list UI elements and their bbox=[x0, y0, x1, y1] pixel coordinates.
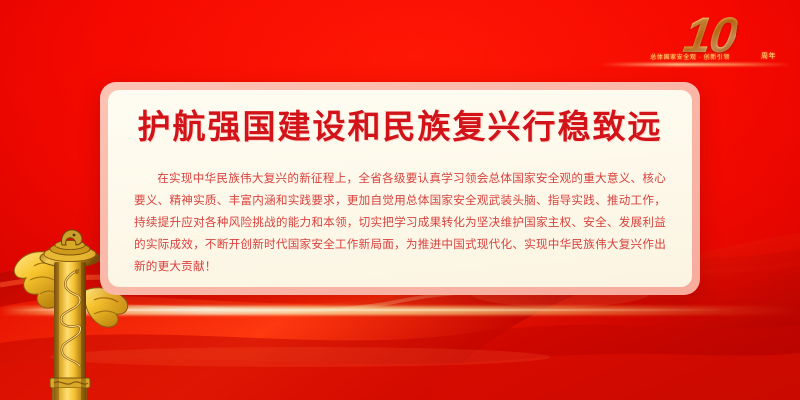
logo-subtitle: 总体国家安全观 · 创新引领 bbox=[650, 54, 730, 62]
logo-number: 10 bbox=[681, 10, 740, 60]
page-title: 护航强国建设和民族复兴行稳致远 bbox=[134, 106, 666, 148]
body-paragraph: 在实现中华民族伟大复兴的新征程上，全省各级要认真学习领会总体国家安全观的重大意义… bbox=[134, 168, 666, 278]
content-card: 护航强国建设和民族复兴行稳致远 在实现中华民族伟大复兴的新征程上，全省各级要认真… bbox=[100, 82, 700, 295]
anniversary-logo: 10 总体国家安全观 · 创新引领 周年 bbox=[610, 8, 782, 70]
logo-unit: 周年 bbox=[761, 53, 776, 61]
logo-glow bbox=[600, 63, 792, 66]
content-card-panel: 护航强国建设和民族复兴行稳致远 在实现中华民族伟大复兴的新征程上，全省各级要认真… bbox=[108, 90, 692, 287]
banner-poster: 10 总体国家安全观 · 创新引领 周年 护航强国建设和民族复兴行稳致远 在实现… bbox=[0, 0, 800, 400]
